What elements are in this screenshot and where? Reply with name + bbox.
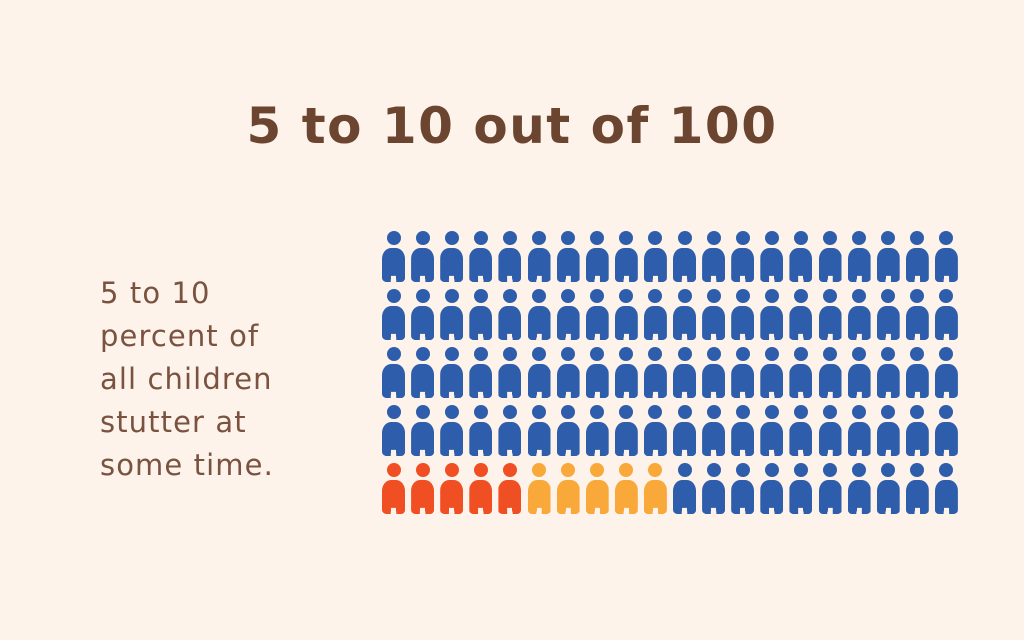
person-head	[881, 347, 895, 361]
person-head	[503, 463, 517, 477]
person-icon	[760, 231, 783, 282]
person-leg-left	[644, 447, 653, 456]
caption-line: all children	[100, 358, 360, 401]
person-icon	[848, 231, 871, 282]
person-leg-left	[383, 389, 392, 398]
person-leg-right	[512, 447, 521, 456]
person-leg-right	[600, 273, 609, 282]
caption-line: some time.	[100, 444, 360, 487]
person-head	[474, 463, 488, 477]
person-head	[619, 347, 633, 361]
person-leg-left	[644, 273, 653, 282]
person-head	[939, 463, 953, 477]
person-head	[765, 289, 779, 303]
person-head	[794, 463, 808, 477]
person-icon	[877, 405, 900, 456]
person-head	[590, 289, 604, 303]
person-leg-left	[557, 505, 566, 514]
person-leg-right	[425, 389, 434, 398]
infographic-canvas: 5 to 10 out of 100 5 to 10 percent of al…	[0, 0, 1024, 640]
person-head	[678, 405, 692, 419]
person-leg-right	[542, 331, 551, 340]
person-icon	[760, 289, 783, 340]
caption-line: 5 to 10	[100, 272, 360, 315]
person-head	[561, 289, 575, 303]
person-icon	[789, 463, 812, 514]
person-icon	[906, 231, 929, 282]
person-leg-left	[586, 447, 595, 456]
person-leg-left	[557, 273, 566, 282]
person-leg-left	[586, 331, 595, 340]
person-icon	[673, 231, 696, 282]
person-icon	[644, 347, 667, 398]
person-head	[648, 347, 662, 361]
person-leg-left	[528, 505, 537, 514]
person-icon	[528, 231, 551, 282]
person-icon	[731, 463, 754, 514]
person-icon	[382, 231, 405, 282]
person-leg-right	[512, 273, 521, 282]
person-icon	[731, 231, 754, 282]
person-head	[939, 231, 953, 245]
person-leg-right	[571, 389, 580, 398]
person-icon	[411, 405, 434, 456]
person-leg-right	[833, 273, 842, 282]
person-icon	[644, 463, 667, 514]
person-leg-right	[803, 505, 812, 514]
person-head	[474, 347, 488, 361]
person-leg-right	[745, 331, 754, 340]
person-leg-right	[891, 331, 900, 340]
person-leg-left	[557, 389, 566, 398]
person-icon	[760, 347, 783, 398]
person-icon	[819, 289, 842, 340]
person-leg-left	[674, 447, 683, 456]
person-leg-left	[906, 389, 915, 398]
person-leg-left	[528, 447, 537, 456]
person-icon	[469, 289, 492, 340]
person-head	[590, 347, 604, 361]
person-icon	[557, 347, 580, 398]
person-icon	[498, 463, 521, 514]
person-icon	[789, 231, 812, 282]
person-head	[736, 289, 750, 303]
person-leg-right	[803, 273, 812, 282]
caption-line: stutter at	[100, 401, 360, 444]
person-leg-left	[615, 389, 624, 398]
person-head	[736, 347, 750, 361]
person-icon	[673, 463, 696, 514]
person-leg-left	[703, 505, 712, 514]
person-leg-right	[687, 331, 696, 340]
person-icon	[877, 463, 900, 514]
person-leg-right	[745, 447, 754, 456]
person-head	[823, 231, 837, 245]
person-leg-right	[774, 389, 783, 398]
person-icon	[528, 289, 551, 340]
person-head	[532, 463, 546, 477]
person-leg-right	[774, 447, 783, 456]
person-icon	[586, 289, 609, 340]
person-icon	[789, 347, 812, 398]
person-head	[736, 463, 750, 477]
person-leg-left	[557, 331, 566, 340]
person-icon	[557, 231, 580, 282]
person-head	[561, 231, 575, 245]
person-leg-right	[571, 505, 580, 514]
person-icon	[644, 231, 667, 282]
person-leg-left	[877, 505, 886, 514]
person-icon	[411, 463, 434, 514]
person-leg-right	[483, 447, 492, 456]
person-leg-right	[745, 273, 754, 282]
person-icon	[469, 405, 492, 456]
person-icon	[615, 289, 638, 340]
person-head	[852, 347, 866, 361]
person-icon	[411, 231, 434, 282]
person-icon	[586, 347, 609, 398]
person-head	[881, 463, 895, 477]
person-leg-right	[542, 505, 551, 514]
person-leg-right	[891, 273, 900, 282]
person-head	[707, 347, 721, 361]
person-leg-right	[833, 331, 842, 340]
person-leg-right	[396, 389, 405, 398]
person-icon	[469, 231, 492, 282]
person-head	[939, 289, 953, 303]
person-leg-right	[454, 389, 463, 398]
person-leg-left	[528, 389, 537, 398]
person-head	[474, 289, 488, 303]
person-leg-left	[819, 389, 828, 398]
person-icon	[586, 405, 609, 456]
person-head	[765, 231, 779, 245]
person-leg-right	[687, 273, 696, 282]
person-head	[416, 405, 430, 419]
person-leg-left	[644, 505, 653, 514]
person-icon	[644, 405, 667, 456]
person-leg-left	[906, 273, 915, 282]
person-head	[881, 405, 895, 419]
person-leg-right	[745, 389, 754, 398]
person-leg-right	[687, 505, 696, 514]
person-head	[590, 405, 604, 419]
person-leg-right	[396, 447, 405, 456]
person-head	[416, 347, 430, 361]
person-head	[474, 405, 488, 419]
person-icon	[848, 347, 871, 398]
person-icon	[935, 231, 958, 282]
person-icon	[440, 405, 463, 456]
person-leg-left	[615, 331, 624, 340]
person-head	[445, 405, 459, 419]
person-leg-left	[935, 389, 944, 398]
person-icon	[731, 405, 754, 456]
person-leg-left	[586, 505, 595, 514]
person-head	[823, 405, 837, 419]
person-icon	[469, 347, 492, 398]
person-icon	[906, 347, 929, 398]
person-leg-left	[906, 447, 915, 456]
person-leg-right	[542, 389, 551, 398]
person-icon	[557, 289, 580, 340]
person-icon	[819, 347, 842, 398]
person-icon	[935, 289, 958, 340]
person-head	[736, 405, 750, 419]
person-icon	[877, 289, 900, 340]
person-leg-right	[716, 331, 725, 340]
caption-block: 5 to 10 percent of all children stutter …	[100, 272, 360, 487]
pictogram-chart	[382, 231, 942, 521]
person-leg-left	[819, 447, 828, 456]
person-leg-right	[687, 389, 696, 398]
person-head	[707, 289, 721, 303]
person-leg-right	[454, 505, 463, 514]
person-leg-left	[935, 447, 944, 456]
person-head	[678, 347, 692, 361]
person-leg-left	[703, 273, 712, 282]
person-head	[736, 231, 750, 245]
person-icon	[440, 289, 463, 340]
person-leg-right	[716, 505, 725, 514]
person-icon	[586, 463, 609, 514]
person-icon	[789, 289, 812, 340]
person-head	[619, 463, 633, 477]
person-head	[503, 231, 517, 245]
person-leg-left	[703, 389, 712, 398]
person-leg-right	[774, 273, 783, 282]
person-head	[765, 405, 779, 419]
person-head	[794, 405, 808, 419]
person-icon	[528, 347, 551, 398]
person-leg-right	[483, 331, 492, 340]
person-leg-right	[774, 505, 783, 514]
person-head	[503, 347, 517, 361]
person-leg-left	[383, 331, 392, 340]
person-head	[561, 347, 575, 361]
person-leg-left	[441, 273, 450, 282]
person-head	[387, 347, 401, 361]
person-head	[852, 289, 866, 303]
person-leg-left	[674, 505, 683, 514]
person-icon	[382, 405, 405, 456]
person-leg-left	[644, 389, 653, 398]
person-leg-right	[687, 447, 696, 456]
person-leg-right	[571, 447, 580, 456]
person-head	[823, 463, 837, 477]
person-head	[445, 289, 459, 303]
person-head	[852, 463, 866, 477]
person-leg-left	[819, 505, 828, 514]
person-head	[910, 231, 924, 245]
person-leg-left	[877, 389, 886, 398]
person-head	[416, 289, 430, 303]
person-icon	[819, 405, 842, 456]
person-leg-left	[877, 273, 886, 282]
person-icon	[615, 463, 638, 514]
person-icon	[760, 405, 783, 456]
person-icon	[673, 405, 696, 456]
person-head	[678, 289, 692, 303]
person-head	[648, 289, 662, 303]
person-leg-left	[412, 505, 421, 514]
person-leg-right	[454, 273, 463, 282]
person-leg-right	[542, 447, 551, 456]
person-head	[561, 463, 575, 477]
person-leg-left	[732, 447, 741, 456]
person-leg-left	[586, 273, 595, 282]
person-icon	[498, 231, 521, 282]
person-leg-left	[674, 389, 683, 398]
person-icon	[906, 289, 929, 340]
person-head	[794, 347, 808, 361]
person-head	[823, 347, 837, 361]
person-head	[648, 231, 662, 245]
person-icon	[731, 289, 754, 340]
person-leg-left	[586, 389, 595, 398]
person-head	[445, 347, 459, 361]
person-leg-right	[803, 389, 812, 398]
person-leg-left	[877, 331, 886, 340]
person-leg-left	[412, 447, 421, 456]
person-icon	[848, 463, 871, 514]
person-leg-left	[703, 331, 712, 340]
person-leg-right	[512, 389, 521, 398]
person-leg-right	[716, 273, 725, 282]
person-icon	[848, 405, 871, 456]
person-icon	[819, 231, 842, 282]
person-leg-left	[848, 447, 857, 456]
person-icon	[557, 405, 580, 456]
person-leg-left	[441, 389, 450, 398]
person-leg-left	[935, 331, 944, 340]
person-leg-left	[906, 505, 915, 514]
person-icon	[819, 463, 842, 514]
person-leg-right	[512, 331, 521, 340]
person-icon	[615, 231, 638, 282]
person-leg-right	[483, 389, 492, 398]
person-head	[852, 231, 866, 245]
person-icon	[789, 405, 812, 456]
person-leg-left	[848, 273, 857, 282]
person-icon	[382, 347, 405, 398]
person-icon	[528, 405, 551, 456]
person-icon	[702, 231, 725, 282]
person-head	[619, 231, 633, 245]
person-icon	[935, 405, 958, 456]
person-leg-right	[396, 331, 405, 340]
person-icon	[702, 347, 725, 398]
person-icon	[615, 347, 638, 398]
person-head	[474, 231, 488, 245]
pictogram-row	[382, 347, 942, 405]
person-leg-left	[819, 273, 828, 282]
person-icon	[702, 289, 725, 340]
person-head	[619, 289, 633, 303]
person-icon	[382, 289, 405, 340]
person-head	[881, 289, 895, 303]
person-leg-right	[803, 447, 812, 456]
pictogram-row	[382, 405, 942, 463]
person-leg-right	[600, 389, 609, 398]
person-leg-left	[732, 389, 741, 398]
pictogram-row	[382, 289, 942, 347]
person-head	[387, 405, 401, 419]
person-leg-right	[833, 447, 842, 456]
person-icon	[877, 347, 900, 398]
person-leg-right	[425, 331, 434, 340]
person-leg-left	[935, 505, 944, 514]
person-leg-right	[891, 447, 900, 456]
person-leg-right	[803, 331, 812, 340]
person-leg-left	[674, 273, 683, 282]
person-leg-right	[425, 505, 434, 514]
person-leg-left	[848, 331, 857, 340]
person-leg-right	[745, 505, 754, 514]
person-icon	[673, 289, 696, 340]
person-leg-left	[848, 389, 857, 398]
person-head	[881, 231, 895, 245]
person-icon	[731, 347, 754, 398]
person-icon	[411, 289, 434, 340]
person-icon	[673, 347, 696, 398]
person-icon	[382, 463, 405, 514]
person-leg-left	[441, 505, 450, 514]
person-leg-left	[441, 447, 450, 456]
person-head	[619, 405, 633, 419]
person-leg-right	[862, 273, 871, 282]
person-leg-right	[862, 505, 871, 514]
person-leg-left	[412, 389, 421, 398]
person-head	[910, 405, 924, 419]
person-leg-left	[441, 331, 450, 340]
person-icon	[557, 463, 580, 514]
person-leg-left	[935, 273, 944, 282]
person-leg-right	[512, 505, 521, 514]
person-leg-left	[848, 505, 857, 514]
person-icon	[528, 463, 551, 514]
person-icon	[877, 231, 900, 282]
person-leg-right	[833, 389, 842, 398]
person-icon	[760, 463, 783, 514]
person-icon	[935, 347, 958, 398]
person-icon	[440, 231, 463, 282]
person-head	[939, 347, 953, 361]
person-head	[561, 405, 575, 419]
person-head	[387, 463, 401, 477]
person-icon	[498, 405, 521, 456]
person-leg-right	[891, 389, 900, 398]
page-title: 5 to 10 out of 100	[0, 96, 1024, 156]
person-head	[532, 231, 546, 245]
person-head	[678, 463, 692, 477]
person-head	[416, 463, 430, 477]
person-head	[532, 405, 546, 419]
person-head	[387, 231, 401, 245]
person-leg-right	[600, 447, 609, 456]
person-leg-right	[833, 505, 842, 514]
person-leg-left	[732, 505, 741, 514]
person-leg-right	[396, 505, 405, 514]
person-leg-right	[454, 331, 463, 340]
person-head	[910, 347, 924, 361]
person-icon	[411, 347, 434, 398]
person-leg-right	[425, 273, 434, 282]
person-head	[794, 289, 808, 303]
person-head	[648, 405, 662, 419]
person-leg-right	[571, 273, 580, 282]
person-icon	[440, 347, 463, 398]
